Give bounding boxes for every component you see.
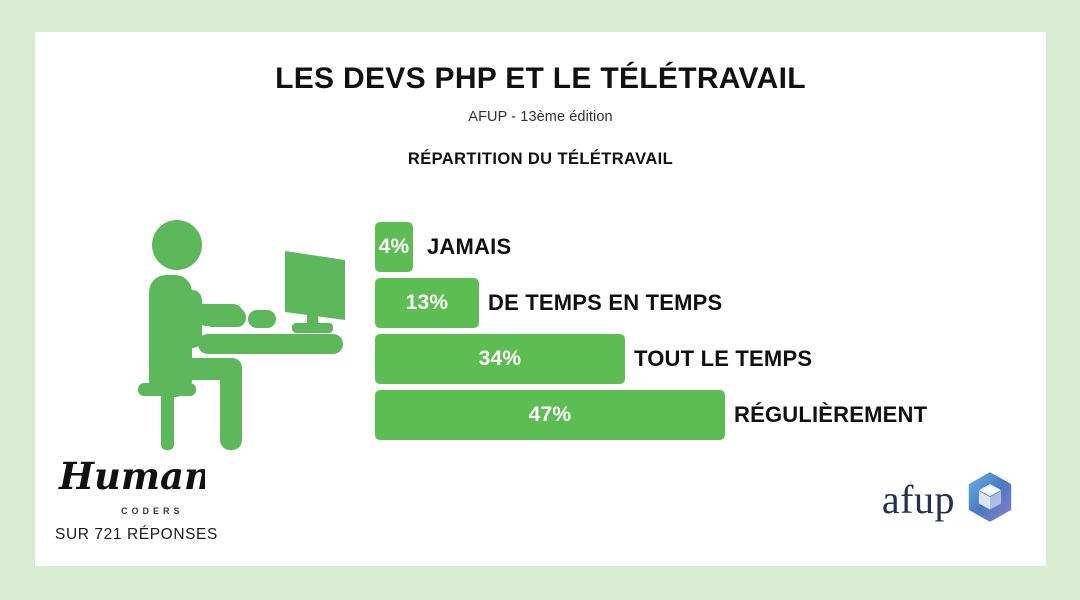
human-coders-wordmark: Human xyxy=(55,455,218,506)
bar-value: 47% xyxy=(529,403,572,427)
human-coders-sub: CODERS xyxy=(55,506,218,516)
infographic-card: LES DEVS PHP ET LE TÉLÉTRAVAIL AFUP - 13… xyxy=(35,32,1046,566)
bar-jamais: 4% xyxy=(375,222,413,272)
bar-row: 47% RÉGULIÈREMENT xyxy=(375,390,1035,440)
bar-regulierement: 47% xyxy=(375,390,725,440)
bar-label: DE TEMPS EN TEMPS xyxy=(488,290,722,316)
bar-label: TOUT LE TEMPS xyxy=(634,346,812,372)
telework-bar-chart: 4% JAMAIS 13% DE TEMPS EN TEMPS 34% TOUT… xyxy=(375,222,1035,472)
hexagon-cube-icon xyxy=(966,471,1014,528)
responses-count: SUR 721 RÉPONSES xyxy=(55,516,218,544)
bar-row: 13% DE TEMPS EN TEMPS xyxy=(375,278,1035,328)
bar-row: 4% JAMAIS xyxy=(375,222,1035,272)
afup-logo-block: afup xyxy=(882,471,1014,528)
header: LES DEVS PHP ET LE TÉLÉTRAVAIL AFUP - 13… xyxy=(35,32,1046,169)
section-title: RÉPARTITION DU TÉLÉTRAVAIL xyxy=(35,125,1046,169)
infographic-page: LES DEVS PHP ET LE TÉLÉTRAVAIL AFUP - 13… xyxy=(0,0,1080,600)
bar-value: 4% xyxy=(379,235,410,259)
page-title: LES DEVS PHP ET LE TÉLÉTRAVAIL xyxy=(35,32,1046,96)
human-wordmark-text: Human xyxy=(58,455,205,498)
human-coders-logo-block: Human CODERS SUR 721 RÉPONSES xyxy=(55,455,218,544)
bar-label: RÉGULIÈREMENT xyxy=(734,402,927,428)
subtitle: AFUP - 13ème édition xyxy=(35,96,1046,125)
bar-label: JAMAIS xyxy=(427,234,511,260)
bar-value: 34% xyxy=(479,347,522,371)
bar-de-temps-en-temps: 13% xyxy=(375,278,479,328)
person-at-desk-illustration xyxy=(135,212,375,472)
afup-wordmark: afup xyxy=(882,480,955,520)
bar-tout-le-temps: 34% xyxy=(375,334,625,384)
bar-value: 13% xyxy=(406,291,449,315)
bar-row: 34% TOUT LE TEMPS xyxy=(375,334,1035,384)
